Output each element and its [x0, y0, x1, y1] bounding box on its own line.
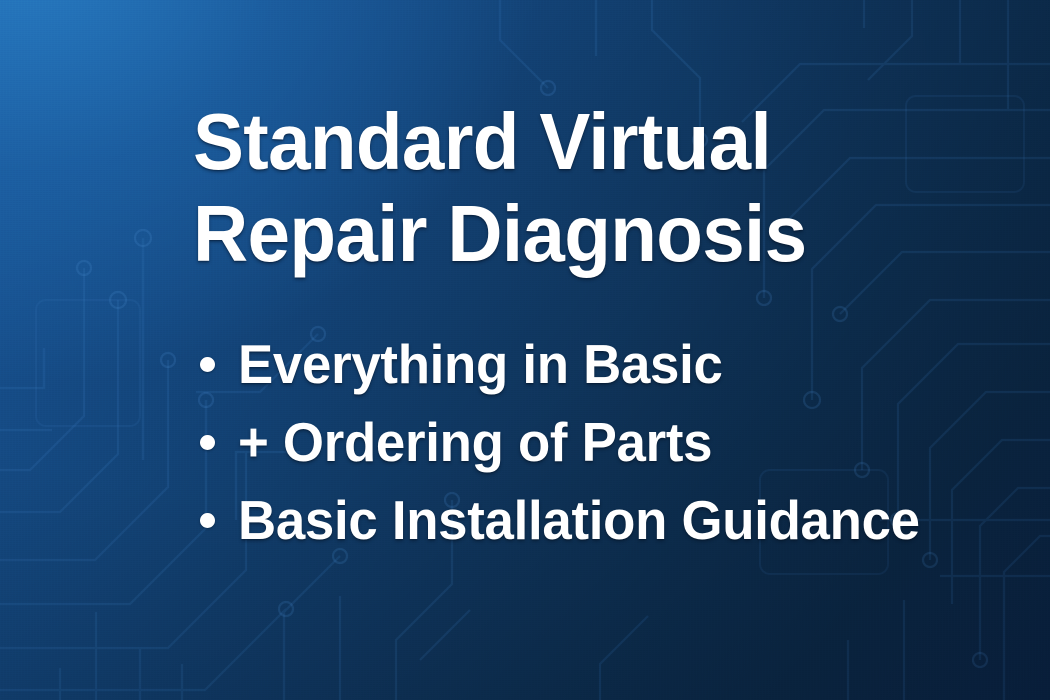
- feature-label: + Ordering of Parts: [238, 413, 712, 471]
- list-item: + Ordering of Parts: [200, 403, 948, 481]
- promo-slide: Standard Virtual Repair Diagnosis Everyt…: [0, 0, 1050, 700]
- slide-content: Standard Virtual Repair Diagnosis Everyt…: [0, 0, 1050, 700]
- bullet-dot-icon: [200, 513, 215, 528]
- feature-label: Everything in Basic: [238, 335, 723, 393]
- title-line-1: Standard Virtual: [193, 96, 957, 188]
- bullet-dot-icon: [200, 357, 215, 372]
- list-item: Basic Installation Guidance: [200, 481, 948, 559]
- page-title: Standard Virtual Repair Diagnosis: [193, 96, 993, 280]
- bullet-dot-icon: [200, 435, 215, 450]
- list-item: Everything in Basic: [200, 325, 948, 403]
- feature-label: Basic Installation Guidance: [238, 491, 920, 549]
- title-line-2: Repair Diagnosis: [193, 188, 957, 280]
- feature-list: Everything in Basic + Ordering of Parts …: [200, 325, 948, 559]
